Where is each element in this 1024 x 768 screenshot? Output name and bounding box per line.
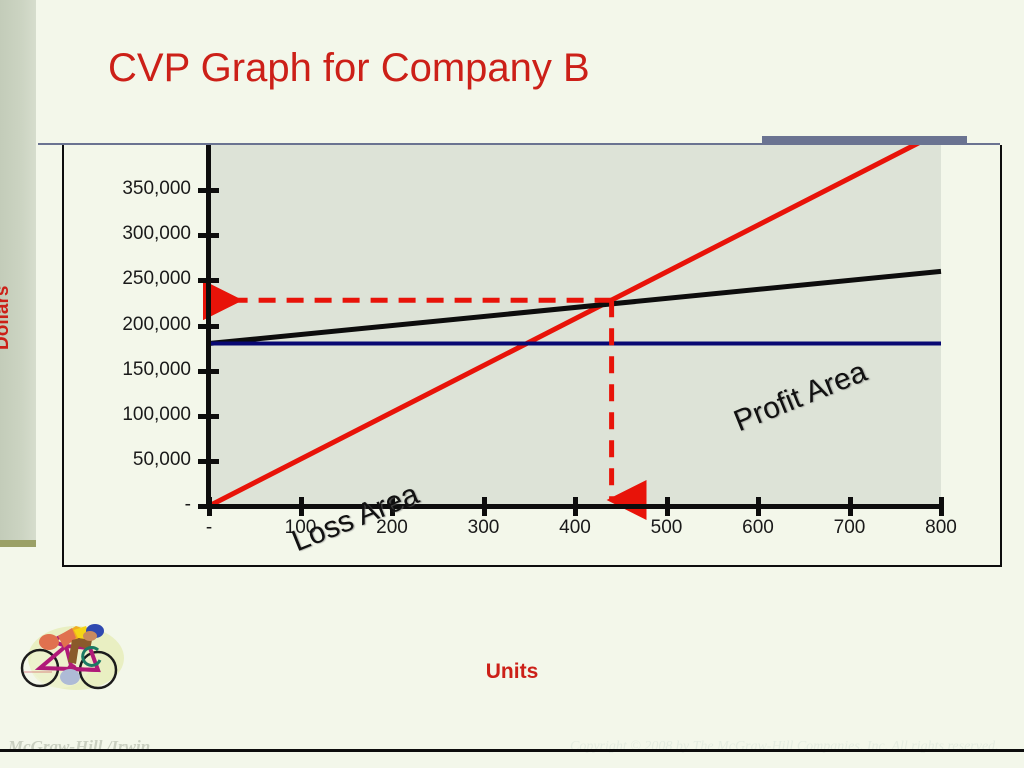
title-accent-bar bbox=[762, 136, 967, 145]
y-axis-tick bbox=[198, 233, 219, 238]
x-axis-title: Units bbox=[0, 660, 1024, 684]
y-axis-tick-label: 100,000 bbox=[95, 404, 191, 426]
y-axis-title: Dollars bbox=[0, 286, 14, 350]
y-axis-tick-label: 250,000 bbox=[95, 268, 191, 290]
cyclist-logo bbox=[14, 612, 134, 702]
x-axis-tick-label: 500 bbox=[632, 517, 702, 539]
publisher-credit: McGraw-Hill /Irwin bbox=[8, 737, 150, 757]
y-axis-tick bbox=[198, 459, 219, 464]
x-axis-tick bbox=[848, 497, 853, 516]
series-line-total-expenses bbox=[209, 271, 941, 343]
y-axis-tick-label: 50,000 bbox=[95, 449, 191, 471]
copyright-notice: Copyright © 2008 by The McGraw-Hill Comp… bbox=[570, 739, 999, 755]
x-axis-tick bbox=[482, 497, 487, 516]
y-axis-tick bbox=[198, 188, 219, 193]
x-axis-tick bbox=[665, 497, 670, 516]
chart-lines-layer bbox=[0, 145, 1024, 545]
series-line-total-sales-revenue bbox=[209, 145, 941, 506]
y-axis-tick bbox=[198, 369, 219, 374]
y-axis-tick-label: 150,000 bbox=[95, 359, 191, 381]
x-axis-tick-label: 800 bbox=[906, 517, 976, 539]
y-axis-tick-label: 300,000 bbox=[95, 223, 191, 245]
page-title: CVP Graph for Company B bbox=[108, 46, 590, 91]
y-axis-tick bbox=[198, 414, 219, 419]
y-axis-tick-label: - bbox=[95, 494, 191, 516]
x-axis-tick bbox=[756, 497, 761, 516]
x-axis-tick-label: - bbox=[174, 517, 244, 539]
y-axis-tick-label: 350,000 bbox=[95, 178, 191, 200]
y-axis-tick bbox=[198, 278, 219, 283]
slide-canvas: CVP Graph for Company B 350,000300,00025… bbox=[0, 0, 1024, 768]
x-axis-tick-label: 600 bbox=[723, 517, 793, 539]
cvp-chart: 350,000300,000250,000200,000150,000100,0… bbox=[0, 145, 1024, 545]
x-axis-tick bbox=[573, 497, 578, 516]
y-axis-tick-label: 200,000 bbox=[95, 314, 191, 336]
footer-rule bbox=[0, 749, 1024, 752]
x-axis-tick-label: 400 bbox=[540, 517, 610, 539]
x-axis-tick bbox=[939, 497, 944, 516]
y-axis-tick bbox=[198, 324, 219, 329]
x-axis-tick bbox=[207, 497, 212, 516]
x-axis-tick bbox=[299, 497, 304, 516]
x-axis-tick-label: 300 bbox=[449, 517, 519, 539]
x-axis-tick-label: 700 bbox=[815, 517, 885, 539]
